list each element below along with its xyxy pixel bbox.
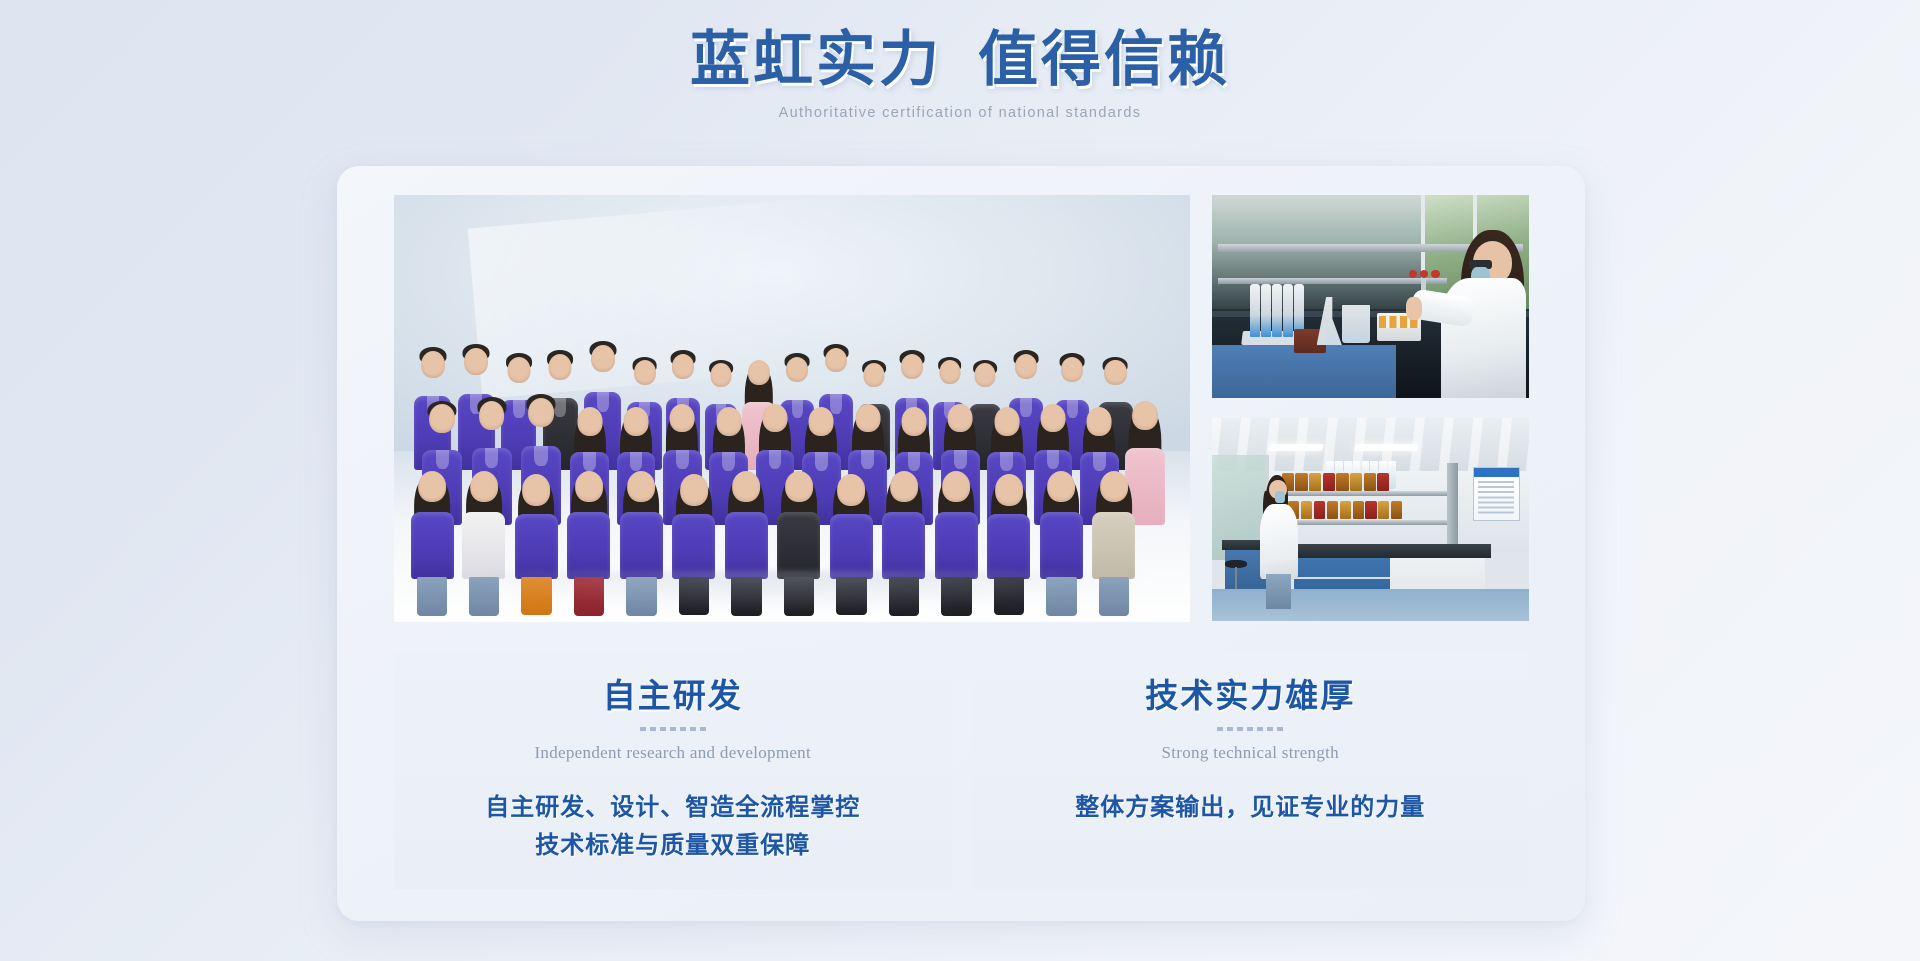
dashed-divider-icon [1217,727,1283,731]
ceiling-lamp-left [1268,444,1324,451]
page-subtitle: Authoritative certification of national … [0,105,1920,121]
team-group-photo[interactable] [394,195,1190,622]
center-bench-top [1288,544,1491,558]
lab-photo-column [1212,195,1529,622]
feature-card-description: 整体方案输出，见证专业的力量 [1075,790,1425,828]
page-title: 蓝虹实力 值得信赖 [0,26,1920,96]
feature-card-technical[interactable]: 技术实力雄厚 Strong technical strength 整体方案输出，… [972,652,1530,889]
lab-back-wall [1212,195,1424,313]
page-header: 蓝虹实力 值得信赖 Authoritative certification of… [0,26,1920,121]
glass-beaker [1342,305,1371,344]
lab-safety-poster [1473,467,1519,522]
lab-cabinet-blue [1212,345,1396,398]
ceiling-lamp-right [1354,444,1419,451]
feature-card-title: 技术实力雄厚 [1145,679,1355,715]
lab-technician-pipetting [1428,211,1526,398]
team-row-front [406,415,1178,579]
feature-card-list: 自主研发 Independent research and developmen… [394,652,1529,889]
feature-card-description: 自主研发、设计、智造全流程掌控 技术标准与质量双重保障 [485,790,860,866]
lab-photo-room[interactable] [1212,418,1529,621]
team-members [406,306,1178,579]
feature-card-rd[interactable]: 自主研发 Independent research and developmen… [394,652,952,889]
media-gallery [394,195,1529,622]
photo-floor-reflection [426,571,1158,614]
lab-technician-standing [1260,475,1298,609]
reagent-bottles-upper [1282,473,1390,491]
feature-card-title: 自主研发 [603,679,743,715]
dashed-divider-icon [640,727,706,731]
lab-photo-pipetting[interactable] [1212,195,1529,398]
content-panel: 自主研发 Independent research and developmen… [337,166,1585,921]
feature-card-english: Strong technical strength [1162,743,1339,763]
feature-card-english: Independent research and development [534,743,811,763]
